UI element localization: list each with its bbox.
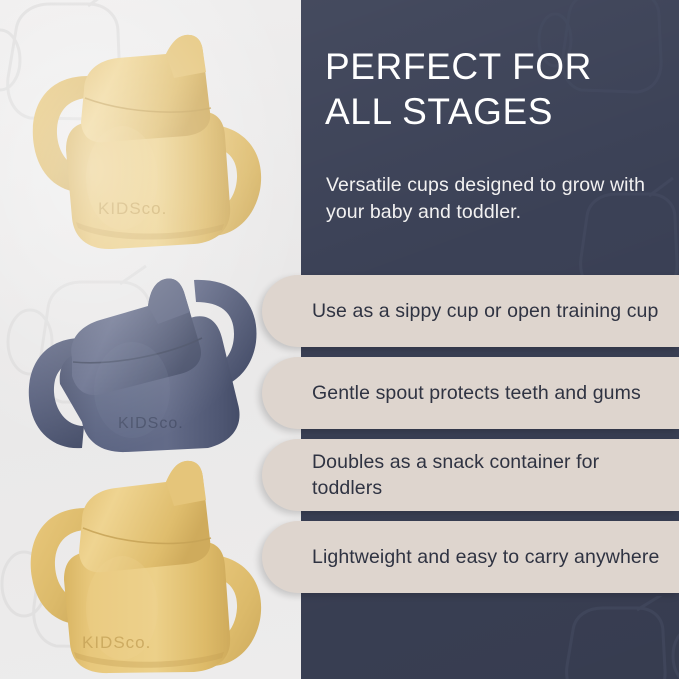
subheading: Versatile cups designed to grow with you… — [326, 172, 656, 226]
product-image-sippy-cup-yellow-top: KIDSco. — [26, 28, 270, 254]
headline-line-2: ALL STAGES — [325, 89, 661, 134]
headline-line-1: PERFECT FOR — [325, 44, 661, 89]
feature-text-2: Gentle spout protects teeth and gums — [312, 380, 662, 406]
background-watermark-cup-outline-bottom — [0, 486, 176, 656]
feature-pill-2[interactable]: Gentle spout protects teeth and gums — [262, 357, 679, 429]
feature-pill-1[interactable]: Use as a sippy cup or open training cup — [262, 275, 679, 347]
product-photo-column: KIDSco. — [0, 0, 302, 679]
product-image-sippy-cup-navy-middle: KIDSco. — [22, 242, 274, 454]
feature-text-4: Lightweight and easy to carry anywhere — [312, 544, 662, 570]
feature-pill-3[interactable]: Doubles as a snack container for toddler… — [262, 439, 679, 511]
panel-watermark-cup-outline-bottom — [539, 596, 679, 679]
svg-text:KIDSco.: KIDSco. — [98, 199, 167, 218]
feature-text-3: Doubles as a snack container for toddler… — [312, 449, 662, 501]
background-watermark-cup-outline-middle — [0, 258, 186, 408]
svg-text:KIDSco.: KIDSco. — [82, 633, 151, 652]
feature-pill-4[interactable]: Lightweight and easy to carry anywhere — [262, 521, 679, 593]
page-title: PERFECT FOR ALL STAGES — [325, 44, 661, 134]
background-watermark-cup-outline-top — [0, 0, 170, 126]
product-image-sippy-cup-yellow-bottom: KIDSco. — [24, 452, 274, 674]
svg-text:KIDSco.: KIDSco. — [118, 415, 184, 432]
infographic-root: KIDSco. — [0, 0, 679, 679]
feature-text-1: Use as a sippy cup or open training cup — [312, 298, 662, 324]
